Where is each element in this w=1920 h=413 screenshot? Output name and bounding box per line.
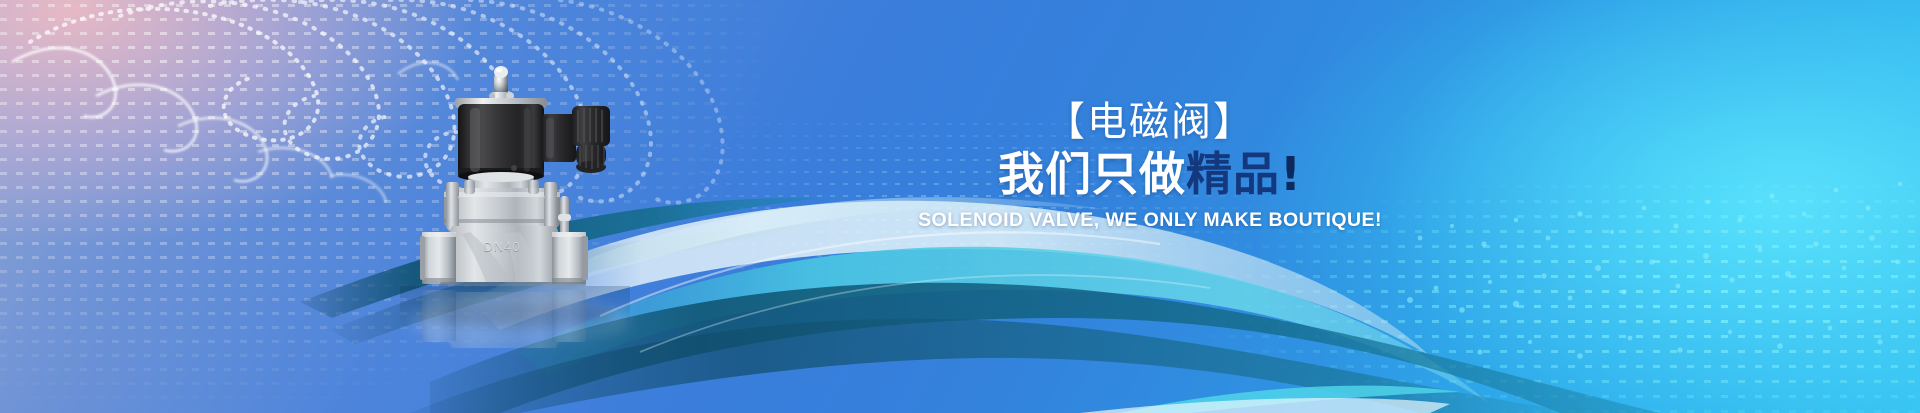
wave-cyan-tail (1120, 386, 1460, 413)
wave-accent-line-1 (600, 232, 1160, 316)
wave-dark-lower-2 (410, 319, 1600, 413)
valve-port-left (420, 232, 456, 284)
valve-bonnet-flange (444, 180, 571, 242)
solenoid-coil (458, 104, 544, 176)
flange-bolts (446, 180, 557, 230)
valve-shadow (422, 300, 614, 328)
wave-dark-left (300, 198, 820, 318)
wave-dark-lower (430, 283, 1660, 413)
valve-top-knob (489, 66, 514, 100)
banner-alt-text: solenoid-valve-product-banner (0, 0, 1, 1)
dotted-swirl-arcs (30, 0, 723, 203)
wave-white-tail (1080, 398, 1450, 413)
coil-top-plate (455, 98, 547, 108)
din-plug-connector (542, 106, 610, 173)
hero-banner: DN40 DN40 (0, 0, 1920, 413)
pilot-tube (558, 196, 571, 242)
main-slogan: 我们只做精品! (800, 148, 1500, 200)
valve-marking-dn40: DN40 (483, 240, 520, 255)
bracket-title: 【电磁阀】 (800, 100, 1500, 144)
valve-mirror-reflection (422, 290, 586, 348)
product-reflection (410, 296, 630, 348)
bubble-highlights (12, 48, 458, 202)
dot-pattern-left (0, 0, 780, 413)
valve-body (443, 226, 564, 282)
product-solenoid-valve: DN40 DN40 (400, 66, 630, 348)
valve-port-right (552, 232, 588, 284)
subtitle-english: SOLENOID VALVE, WE ONLY MAKE BOUTIQUE! (800, 209, 1500, 232)
slogan-exclamation: ! (1280, 147, 1302, 201)
wave-accent-line-2 (640, 275, 1210, 352)
slogan-navy-part: 精品 (1186, 147, 1280, 201)
slogan-white-part: 我们只做 (998, 147, 1186, 201)
headline-copy-block: 【电磁阀】 我们只做精品! SOLENOID VALVE, WE ONLY MA… (800, 100, 1500, 232)
valve-bonnet-neck (468, 176, 534, 190)
svg-text:DN40: DN40 (483, 239, 520, 254)
wave-dark-left-2 (330, 224, 840, 344)
wave-cyan-main (520, 247, 1490, 404)
